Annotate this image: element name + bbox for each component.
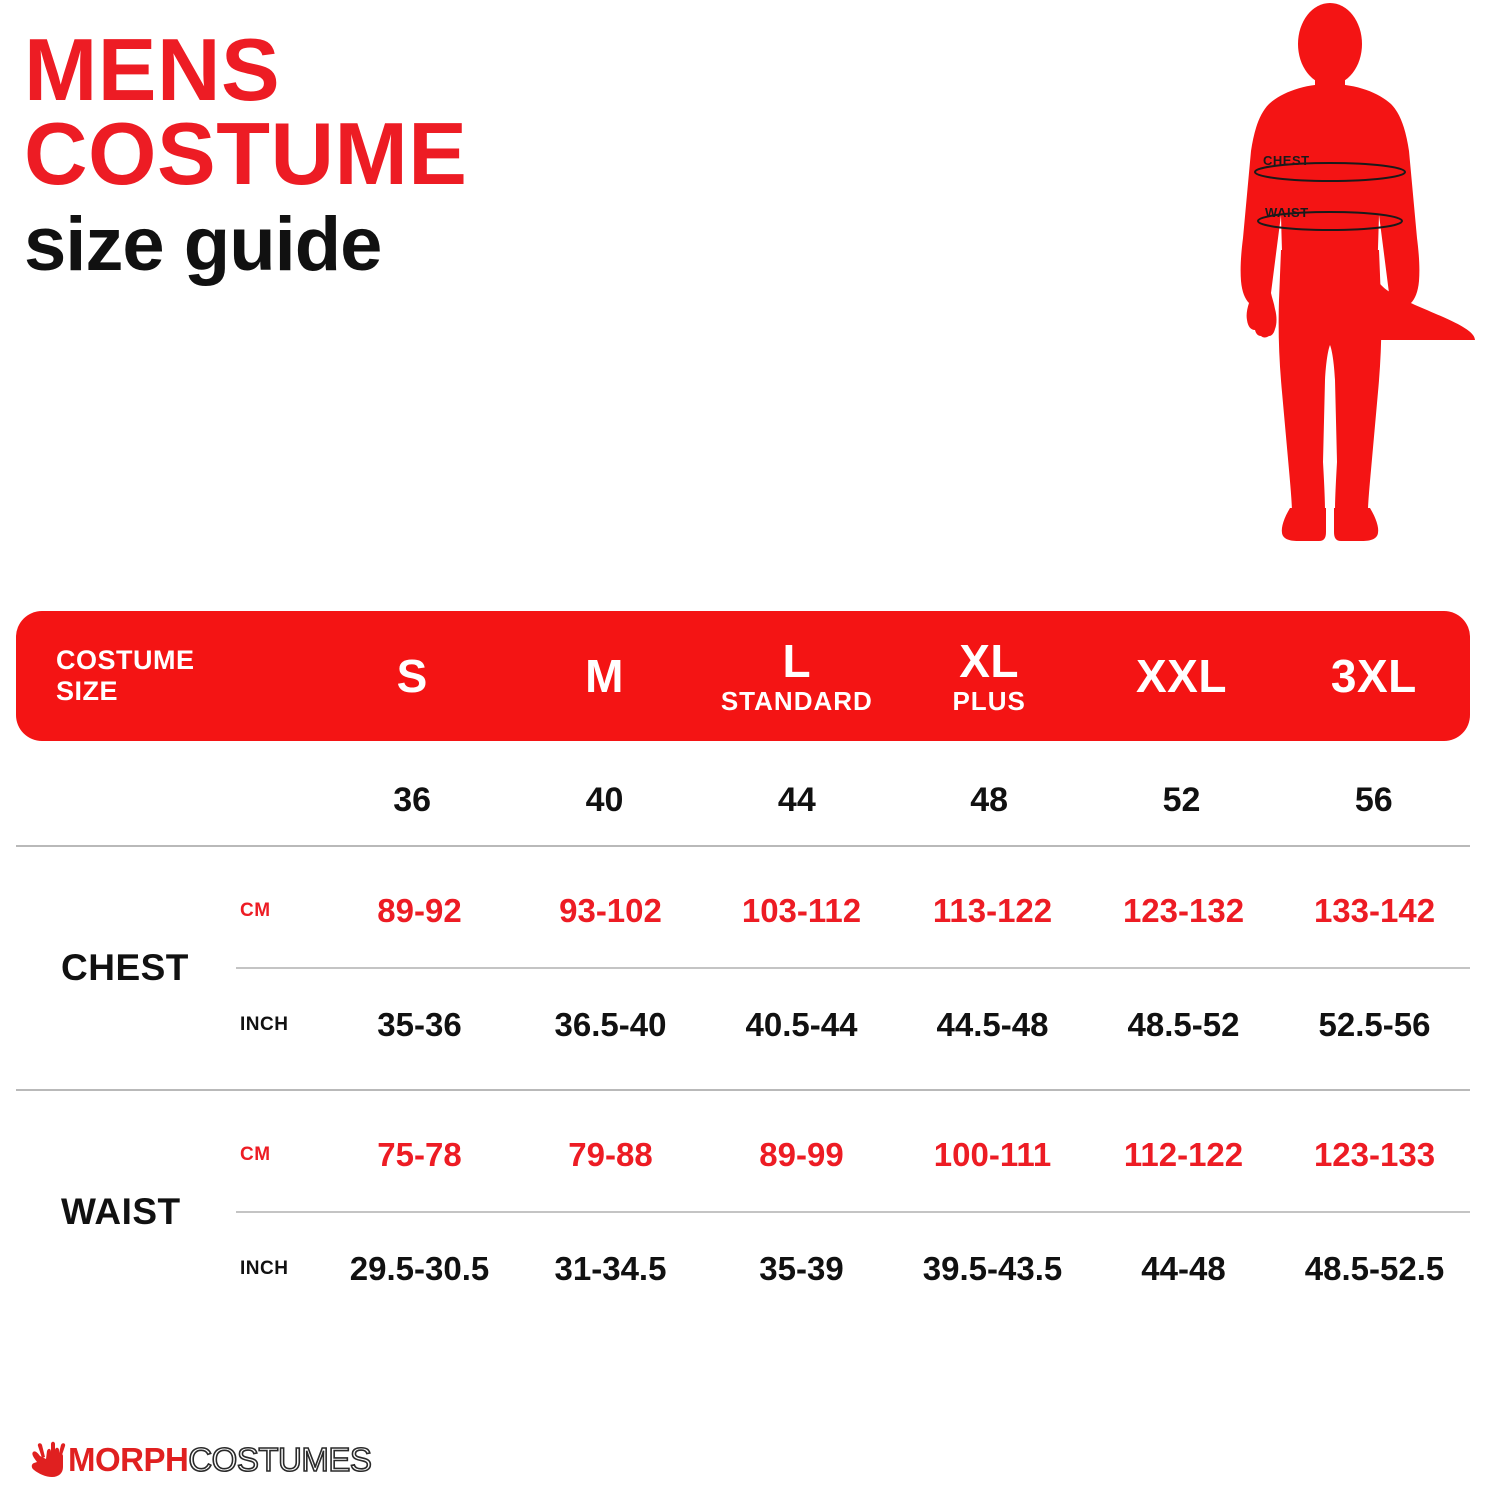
measurement-label-waist: WAIST <box>16 1191 236 1233</box>
header-col-l: L STANDARD <box>701 637 893 715</box>
header-col-xxl-main: XXL <box>1085 652 1277 700</box>
numeric-size-row: 36 40 44 48 52 56 <box>16 755 1470 845</box>
waist-band-label: WAIST <box>1265 205 1309 220</box>
measurement-rows-waist: CM 75-78 79-88 89-99 100-111 112-122 123… <box>236 1099 1470 1325</box>
numeric-size-m: 40 <box>508 781 700 820</box>
header-col-s: S <box>316 652 508 700</box>
header-col-xl: XL PLUS <box>893 637 1085 715</box>
table-row: INCH 29.5-30.5 31-34.5 35-39 39.5-43.5 4… <box>236 1213 1470 1325</box>
chest-cm-l: 103-112 <box>706 892 897 930</box>
numeric-size-xl: 48 <box>893 781 1085 820</box>
page-title: MENS COSTUME size guide <box>24 28 744 283</box>
chest-cm-3xl: 133-142 <box>1279 892 1470 930</box>
measurement-group-waist: WAIST CM 75-78 79-88 89-99 100-111 112-1… <box>16 1099 1470 1325</box>
numeric-size-xxl: 52 <box>1085 781 1277 820</box>
chest-cm-m: 93-102 <box>515 892 706 930</box>
numeric-size-s: 36 <box>316 781 508 820</box>
table-row: CM 75-78 79-88 89-99 100-111 112-122 123… <box>236 1099 1470 1211</box>
waist-inch-s: 29.5-30.5 <box>324 1250 515 1288</box>
waist-inch-l: 35-39 <box>706 1250 897 1288</box>
unit-tag-inch: INCH <box>236 1258 324 1280</box>
logo-costumes-text: COSTUMES <box>188 1443 371 1476</box>
header-col-l-qualifier: STANDARD <box>701 688 893 715</box>
table-row: CM 89-92 93-102 103-112 113-122 123-132 … <box>236 855 1470 967</box>
waist-inch-xxl: 44-48 <box>1088 1250 1279 1288</box>
header-row-label-line2: SIZE <box>56 676 316 707</box>
chest-inch-xl: 44.5-48 <box>897 1006 1088 1044</box>
chest-cm-s: 89-92 <box>324 892 515 930</box>
header-col-s-main: S <box>316 652 508 700</box>
header-col-3xl-main: 3XL <box>1278 652 1470 700</box>
waist-cm-l: 89-99 <box>706 1136 897 1174</box>
size-chart-table: COSTUME SIZE S M L STANDARD XL PLUS XXL … <box>16 611 1470 1325</box>
numeric-size-3xl: 56 <box>1278 781 1470 820</box>
title-subtitle: size guide <box>24 207 744 283</box>
header-col-m: M <box>508 652 700 700</box>
waist-cm-s: 75-78 <box>324 1136 515 1174</box>
table-header-row: COSTUME SIZE S M L STANDARD XL PLUS XXL … <box>16 611 1470 741</box>
table-row: INCH 35-36 36.5-40 40.5-44 44.5-48 48.5-… <box>236 969 1470 1081</box>
waist-cm-xl: 100-111 <box>897 1136 1088 1174</box>
header-col-xl-main: XL <box>893 637 1085 685</box>
measurement-group-chest: CHEST CM 89-92 93-102 103-112 113-122 12… <box>16 855 1470 1081</box>
body-silhouette-figure: CHEST WAIST <box>1185 0 1475 545</box>
chest-inch-m: 36.5-40 <box>515 1006 706 1044</box>
waist-inch-3xl: 48.5-52.5 <box>1279 1250 1470 1288</box>
chest-band-label: CHEST <box>1263 153 1310 168</box>
waist-cm-xxl: 112-122 <box>1088 1136 1279 1174</box>
brand-logo: MORPH COSTUMES <box>28 1432 371 1486</box>
title-line-1: MENS <box>24 28 744 112</box>
male-silhouette-icon <box>1185 0 1475 545</box>
divider-below-numeric <box>16 845 1470 847</box>
measurement-rows-chest: CM 89-92 93-102 103-112 113-122 123-132 … <box>236 855 1470 1081</box>
header-col-xl-qualifier: PLUS <box>893 688 1085 715</box>
logo-morph-text: MORPH <box>68 1443 188 1476</box>
unit-tag-inch: INCH <box>236 1014 324 1036</box>
measurement-label-chest: CHEST <box>16 947 236 989</box>
waist-inch-xl: 39.5-43.5 <box>897 1250 1088 1288</box>
waist-cm-3xl: 123-133 <box>1279 1136 1470 1174</box>
waist-cm-m: 79-88 <box>515 1136 706 1174</box>
chest-cm-xxl: 123-132 <box>1088 892 1279 930</box>
chest-inch-s: 35-36 <box>324 1006 515 1044</box>
header-row-label-line1: COSTUME <box>56 645 316 676</box>
chest-inch-l: 40.5-44 <box>706 1006 897 1044</box>
header-col-xxl: XXL <box>1085 652 1277 700</box>
unit-tag-cm: CM <box>236 900 324 922</box>
header-col-m-main: M <box>508 652 700 700</box>
header-col-l-main: L <box>701 637 893 685</box>
chest-inch-xxl: 48.5-52 <box>1088 1006 1279 1044</box>
waist-inch-m: 31-34.5 <box>515 1250 706 1288</box>
header-row-label: COSTUME SIZE <box>16 645 316 707</box>
divider-between-groups <box>16 1089 1470 1091</box>
unit-tag-cm: CM <box>236 1144 324 1166</box>
numeric-size-l: 44 <box>701 781 893 820</box>
title-line-2: COSTUME <box>24 112 744 196</box>
chest-cm-xl: 113-122 <box>897 892 1088 930</box>
chest-inch-3xl: 52.5-56 <box>1279 1006 1470 1044</box>
header-col-3xl: 3XL <box>1278 652 1470 700</box>
